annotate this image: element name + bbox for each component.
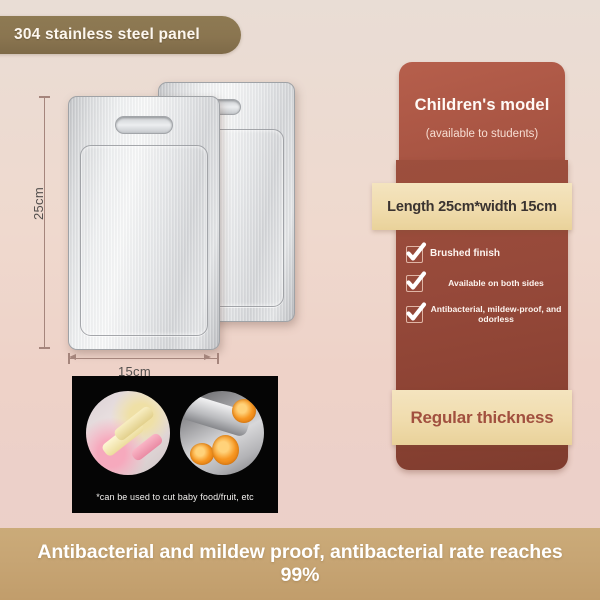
checkbox-checked-icon <box>406 306 423 323</box>
height-dimension-cap-top <box>39 96 50 98</box>
info-card-subtitle: (available to students) <box>399 128 565 140</box>
header-badge: 304 stainless steel panel <box>0 16 241 54</box>
usage-photo-panel: *can be used to cut baby food/fruit, etc <box>72 376 278 513</box>
feature-item: Brushed finish <box>406 246 562 263</box>
footer-banner: Antibacterial and mildew proof, antibact… <box>0 528 600 600</box>
front-board-hanging-hole <box>115 116 173 134</box>
feature-item: Available on both sides <box>406 275 562 292</box>
width-arrow-right-icon <box>204 354 211 360</box>
header-badge-label: 304 stainless steel panel <box>0 26 200 44</box>
thickness-band: Regular thickness <box>392 390 572 445</box>
product-illustration: 25cm 15cm <box>0 60 370 370</box>
baby-food-photo <box>86 391 170 475</box>
orange-slice <box>212 435 239 465</box>
orange-slice <box>232 399 256 423</box>
width-dimension-cap-right <box>217 353 219 364</box>
size-band: Length 25cm*width 15cm <box>372 183 572 230</box>
front-board-inner-edge <box>80 145 208 336</box>
size-band-label: Length 25cm*width 15cm <box>387 199 557 215</box>
width-dimension-line <box>68 358 218 359</box>
footer-claim: Antibacterial and mildew proof, antibact… <box>0 541 600 587</box>
feature-label: Antibacterial, mildew-proof, and odorles… <box>430 304 562 325</box>
feature-item: Antibacterial, mildew-proof, and odorles… <box>406 304 562 325</box>
checkbox-checked-icon <box>406 275 423 292</box>
checkbox-checked-icon <box>406 246 423 263</box>
feature-label: Available on both sides <box>430 278 562 288</box>
height-dimension-cap-bottom <box>39 347 50 349</box>
thickness-band-label: Regular thickness <box>410 408 553 428</box>
feature-list: Brushed finish Available on both sides A… <box>406 246 562 337</box>
height-dimension-label: 25cm <box>31 187 46 220</box>
usage-caption: *can be used to cut baby food/fruit, etc <box>72 492 278 502</box>
orange-slice <box>190 443 214 465</box>
info-card-title: Children's model <box>399 96 565 115</box>
front-board <box>68 96 220 350</box>
height-dimension-line <box>44 96 45 348</box>
width-arrow-left-icon <box>69 354 76 360</box>
info-card-header: Children's model (available to students) <box>399 62 565 170</box>
feature-label: Brushed finish <box>430 248 500 260</box>
fruit-cutting-photo <box>180 391 264 475</box>
product-poster: 304 stainless steel panel 25cm 15cm <box>0 0 600 600</box>
